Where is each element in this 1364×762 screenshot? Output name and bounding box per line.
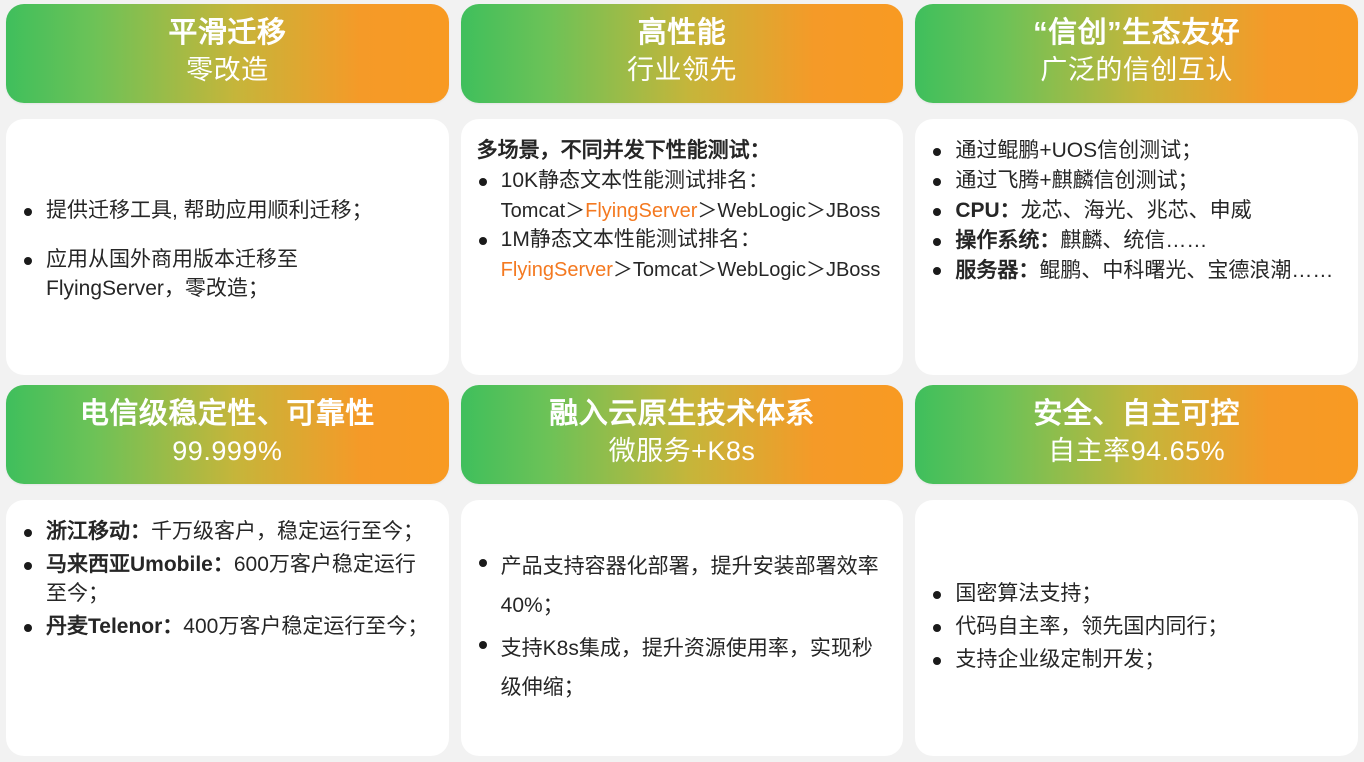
card-title: “信创”生态友好	[927, 14, 1346, 52]
list-item: 支持企业级定制开发；	[929, 646, 1342, 675]
bullet-text: 龙芯、海光、兆芯、申威	[1021, 199, 1252, 222]
card-header: “信创”生态友好 广泛的信创互认	[915, 4, 1358, 103]
bullet-list: 10K静态文本性能测试排名： Tomcat＞FlyingServer＞WebLo…	[475, 167, 888, 284]
list-item: 1M静态文本性能测试排名： FlyingServer＞Tomcat＞WebLog…	[475, 226, 888, 284]
bullet-list: 浙江移动：千万级客户，稳定运行至今； 马来西亚Umobile：600万客户稳定运…	[20, 518, 433, 646]
list-item: 产品支持容器化部署，提升安装部署效率40%；	[475, 548, 888, 626]
card-subtitle: 99.999%	[18, 433, 437, 469]
feature-card-grid: 平滑迁移 零改造 提供迁移工具, 帮助应用顺利迁移； 应用从国外商用版本迁移至F…	[0, 0, 1364, 762]
bullet-text: 代码自主率，领先国内同行；	[955, 615, 1228, 638]
ranking-part: Tomcat＞	[501, 200, 585, 222]
bullet-text: 千万级客户，稳定运行至今；	[151, 520, 424, 543]
bullet-label: 服务器：	[955, 259, 1039, 282]
bullet-list: 提供迁移工具, 帮助应用顺利迁移； 应用从国外商用版本迁移至FlyingServ…	[20, 197, 433, 304]
list-item: 支持K8s集成，提升资源使用率，实现秒级伸缩；	[475, 630, 888, 708]
card-body: 国密算法支持； 代码自主率，领先国内同行； 支持企业级定制开发；	[915, 500, 1358, 756]
ranking-part-accent: FlyingServer	[501, 259, 613, 281]
card-subtitle: 微服务+K8s	[473, 433, 892, 469]
bullet-text: 支持企业级定制开发；	[955, 648, 1165, 671]
list-item: 代码自主率，领先国内同行；	[929, 613, 1342, 642]
bullet-label: 丹麦Telenor：	[46, 615, 183, 638]
bullet-label: 操作系统：	[955, 229, 1060, 252]
card-title: 电信级稳定性、可靠性	[18, 395, 437, 433]
ranking-part: ＞Tomcat＞WebLogic＞JBoss	[613, 259, 881, 281]
card-header: 融入云原生技术体系 微服务+K8s	[461, 385, 904, 484]
bullet-text: 产品支持容器化部署，提升安装部署效率40%；	[501, 555, 879, 617]
bullet-label: 浙江移动：	[46, 520, 151, 543]
card-header: 电信级稳定性、可靠性 99.999%	[6, 385, 449, 484]
list-item: 国密算法支持；	[929, 580, 1342, 609]
list-item: 提供迁移工具, 帮助应用顺利迁移；	[20, 197, 433, 226]
card-body: 产品支持容器化部署，提升安装部署效率40%； 支持K8s集成，提升资源使用率，实…	[461, 500, 904, 756]
card-title: 高性能	[473, 14, 892, 52]
list-item: 服务器：鲲鹏、中科曙光、宝德浪潮……	[929, 257, 1342, 286]
list-item: 浙江移动：千万级客户，稳定运行至今；	[20, 518, 433, 547]
bullet-text: 10K静态文本性能测试排名：	[501, 169, 769, 192]
bullet-text: 提供迁移工具, 帮助应用顺利迁移；	[46, 199, 373, 222]
bullet-label: 马来西亚Umobile：	[46, 553, 234, 576]
ranking-part: ＞WebLogic＞JBoss	[697, 200, 880, 222]
card-carrier-grade-stability: 电信级稳定性、可靠性 99.999% 浙江移动：千万级客户，稳定运行至今； 马来…	[6, 385, 449, 756]
bullet-list: 产品支持容器化部署，提升安装部署效率40%； 支持K8s集成，提升资源使用率，实…	[475, 548, 888, 711]
card-security-autonomy: 安全、自主可控 自主率94.65% 国密算法支持； 代码自主率，领先国内同行； …	[915, 385, 1358, 756]
card-title: 融入云原生技术体系	[473, 395, 892, 433]
card-header: 平滑迁移 零改造	[6, 4, 449, 103]
bullet-list: 国密算法支持； 代码自主率，领先国内同行； 支持企业级定制开发；	[929, 580, 1342, 679]
card-title: 平滑迁移	[18, 14, 437, 52]
card-subtitle: 广泛的信创互认	[927, 52, 1346, 88]
list-item: 马来西亚Umobile：600万客户稳定运行至今；	[20, 551, 433, 609]
bullet-label: CPU：	[955, 199, 1020, 222]
section-lead: 多场景，不同并发下性能测试：	[475, 137, 888, 165]
card-smooth-migration: 平滑迁移 零改造 提供迁移工具, 帮助应用顺利迁移； 应用从国外商用版本迁移至F…	[6, 4, 449, 375]
bullet-text: 通过飞腾+麒麟信创测试；	[955, 169, 1198, 192]
bullet-text: 麒麟、统信……	[1060, 229, 1207, 252]
list-item: 10K静态文本性能测试排名： Tomcat＞FlyingServer＞WebLo…	[475, 167, 888, 225]
list-item: 应用从国外商用版本迁移至FlyingServer，零改造；	[20, 246, 433, 304]
bullet-text: 应用从国外商用版本迁移至FlyingServer，零改造；	[46, 248, 298, 300]
list-item: 通过鲲鹏+UOS信创测试；	[929, 137, 1342, 166]
card-high-performance: 高性能 行业领先 多场景，不同并发下性能测试： 10K静态文本性能测试排名： T…	[461, 4, 904, 375]
card-subtitle: 行业领先	[473, 52, 892, 88]
ranking-line: Tomcat＞FlyingServer＞WebLogic＞JBoss	[501, 197, 888, 225]
list-item: CPU：龙芯、海光、兆芯、申威	[929, 197, 1342, 226]
list-item: 操作系统：麒麟、统信……	[929, 227, 1342, 256]
ranking-line: FlyingServer＞Tomcat＞WebLogic＞JBoss	[501, 256, 888, 284]
card-header: 安全、自主可控 自主率94.65%	[915, 385, 1358, 484]
card-title: 安全、自主可控	[927, 395, 1346, 433]
bullet-text: 通过鲲鹏+UOS信创测试；	[955, 139, 1202, 162]
card-body: 通过鲲鹏+UOS信创测试； 通过飞腾+麒麟信创测试； CPU：龙芯、海光、兆芯、…	[915, 119, 1358, 375]
card-header: 高性能 行业领先	[461, 4, 904, 103]
list-item: 通过飞腾+麒麟信创测试；	[929, 167, 1342, 196]
bullet-text: 国密算法支持；	[955, 582, 1102, 605]
bullet-text: 1M静态文本性能测试排名：	[501, 228, 761, 251]
card-body: 提供迁移工具, 帮助应用顺利迁移； 应用从国外商用版本迁移至FlyingServ…	[6, 119, 449, 375]
card-body: 浙江移动：千万级客户，稳定运行至今； 马来西亚Umobile：600万客户稳定运…	[6, 500, 449, 756]
card-xinchuang-ecosystem: “信创”生态友好 广泛的信创互认 通过鲲鹏+UOS信创测试； 通过飞腾+麒麟信创…	[915, 4, 1358, 375]
list-item: 丹麦Telenor：400万客户稳定运行至今；	[20, 613, 433, 642]
card-subtitle: 自主率94.65%	[927, 433, 1346, 469]
ranking-part-accent: FlyingServer	[585, 200, 697, 222]
card-subtitle: 零改造	[18, 52, 437, 88]
bullet-list: 通过鲲鹏+UOS信创测试； 通过飞腾+麒麟信创测试； CPU：龙芯、海光、兆芯、…	[929, 137, 1342, 286]
bullet-text: 支持K8s集成，提升资源使用率，实现秒级伸缩；	[501, 637, 873, 699]
card-cloud-native: 融入云原生技术体系 微服务+K8s 产品支持容器化部署，提升安装部署效率40%；…	[461, 385, 904, 756]
card-body: 多场景，不同并发下性能测试： 10K静态文本性能测试排名： Tomcat＞Fly…	[461, 119, 904, 375]
bullet-text: 400万客户稳定运行至今；	[183, 615, 428, 638]
bullet-text: 鲲鹏、中科曙光、宝德浪潮……	[1039, 259, 1333, 282]
